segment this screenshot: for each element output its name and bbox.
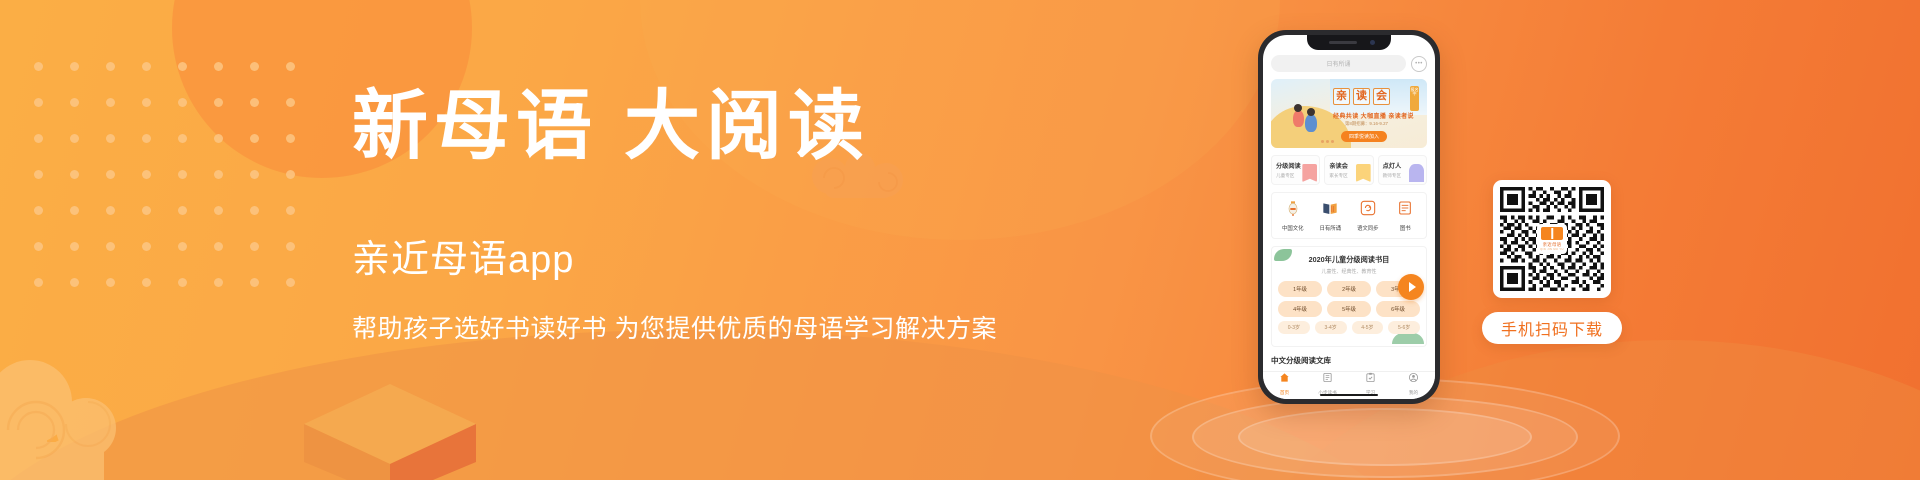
age-pill-4-5[interactable]: 4-5岁 xyxy=(1352,321,1384,334)
sync-icon xyxy=(1360,200,1376,216)
tab-study[interactable]: 学习 xyxy=(1349,372,1392,396)
booklist-subtitle: 儿童性、经典性、教育性 xyxy=(1278,268,1420,275)
quick-link-label: 图书 xyxy=(1387,224,1425,232)
hero-title-char: 读 xyxy=(1353,88,1370,105)
quick-link-label: 语文同步 xyxy=(1349,224,1387,232)
quick-link-row: 中国文化 日有所诵 xyxy=(1271,192,1427,239)
category-card-teacher[interactable]: 点灯人 教师专区 xyxy=(1378,155,1427,185)
kid-illustration xyxy=(1305,114,1317,132)
hero-title: 亲 读 会 xyxy=(1333,88,1390,105)
phone-notch xyxy=(1307,35,1391,50)
quick-link-label: 中国文化 xyxy=(1274,224,1312,232)
kid-head-illustration xyxy=(1307,108,1315,116)
hero-title-char: 亲 xyxy=(1333,88,1350,105)
app-content: 日有所诵 ••• 亲 读 会 报名中 经典共读 大咖 xyxy=(1263,35,1435,391)
lantern-icon xyxy=(1285,200,1301,216)
tab-label: 首页 xyxy=(1263,390,1306,396)
quick-link-sync-course[interactable]: 语文同步 xyxy=(1349,200,1387,232)
age-pill-3-4[interactable]: 3-4岁 xyxy=(1315,321,1347,334)
phone-screen: 日有所诵 ••• 亲 读 会 报名中 经典共读 大咖 xyxy=(1263,35,1435,399)
app-search-bar: 日有所诵 ••• xyxy=(1271,55,1427,72)
tab-profile[interactable]: 我的 xyxy=(1392,372,1435,396)
phone-mockup: 日有所诵 ••• 亲 读 会 报名中 经典共读 大咖 xyxy=(1258,30,1440,404)
promo-banner: 新母语大阅读 亲近母语app 帮助孩子选好书读好书 为您提供优质的母语学习解决方… xyxy=(0,0,1920,480)
book-logo-icon xyxy=(1541,227,1563,240)
quick-link-label: 日有所诵 xyxy=(1312,224,1350,232)
grade-pill-2[interactable]: 2年级 xyxy=(1327,281,1371,297)
bookmark-red-icon xyxy=(1302,164,1317,182)
app-name-subtitle: 亲近母语app xyxy=(352,228,997,283)
download-button[interactable]: 手机扫码下载 xyxy=(1482,312,1622,344)
headline-part-right: 大阅读 xyxy=(624,81,870,170)
quick-link-chinese-culture[interactable]: 中国文化 xyxy=(1274,200,1312,232)
category-card-row: 分级阅读 儿童专区 亲读会 家长专区 点灯人 教师专区 xyxy=(1271,155,1427,185)
book-icon xyxy=(1397,200,1413,216)
bookmark-yellow-icon xyxy=(1356,164,1371,182)
tab-home[interactable]: 首页 xyxy=(1263,372,1306,396)
banner-tagline: 帮助孩子选好书读好书 为您提供优质的母语学习解决方案 xyxy=(352,309,997,345)
age-pill-5-6[interactable]: 5-6岁 xyxy=(1388,321,1420,334)
category-card-graded-reading[interactable]: 分级阅读 儿童专区 xyxy=(1271,155,1320,185)
person-purple-icon xyxy=(1409,164,1424,182)
hero-subtitle: 经典共读 大咖直播 亲读者说 xyxy=(1333,111,1414,120)
library-title: 中文分级阅读文库 xyxy=(1271,355,1427,366)
carousel-dots[interactable] xyxy=(1321,140,1334,143)
hero-date-text: 第8期招募：9.16-9.27 xyxy=(1345,121,1388,127)
booklist-card: 2020年儿童分级阅读书目 儿童性、经典性、教育性 1年级 2年级 3年级 4年… xyxy=(1271,246,1427,347)
hero-promo-card[interactable]: 亲 读 会 报名中 经典共读 大咖直播 亲读者说 第8期招募：9.16-9.27… xyxy=(1271,79,1427,148)
hero-join-button[interactable]: 四季悦读加入 xyxy=(1341,131,1387,142)
age-pill-0-3[interactable]: 0-3岁 xyxy=(1278,321,1310,334)
grade-pill-4[interactable]: 4年级 xyxy=(1278,301,1322,317)
banner-copy: 新母语大阅读 亲近母语app 帮助孩子选好书读好书 为您提供优质的母语学习解决方… xyxy=(352,88,997,345)
chat-bubble-icon[interactable]: ••• xyxy=(1411,56,1427,72)
speaker-grill-icon xyxy=(1329,41,1357,44)
age-row: 0-3岁 3-4岁 4-5岁 5-6岁 xyxy=(1278,321,1420,334)
dot-grid-decoration xyxy=(34,62,322,314)
home-indicator xyxy=(1320,394,1378,397)
grade-pill-6[interactable]: 6年级 xyxy=(1376,301,1420,317)
clipboard-check-icon xyxy=(1365,372,1376,383)
booklist-title: 2020年儿童分级阅读书目 xyxy=(1278,255,1420,265)
hero-side-tag: 报名中 xyxy=(1410,86,1419,111)
phone-shadow-ripple xyxy=(1238,408,1532,466)
kid-head-illustration xyxy=(1294,104,1302,112)
tab-reading[interactable]: 小步读书 xyxy=(1306,372,1349,396)
reading-icon xyxy=(1322,372,1333,383)
cloud-swirl-decoration xyxy=(0,358,208,480)
kid-illustration xyxy=(1293,110,1304,127)
grade-pill-5[interactable]: 5年级 xyxy=(1327,301,1371,317)
box-3d-decoration xyxy=(300,378,480,480)
home-icon xyxy=(1279,372,1290,383)
tab-label: 我的 xyxy=(1392,390,1435,396)
grade-pill-1[interactable]: 1年级 xyxy=(1278,281,1322,297)
grade-row: 4年级 5年级 6年级 xyxy=(1278,301,1420,317)
quick-link-daily-recite[interactable]: 日有所诵 xyxy=(1312,200,1350,232)
search-input[interactable]: 日有所诵 xyxy=(1271,55,1406,72)
book-open-icon xyxy=(1322,200,1338,216)
leaf-decoration xyxy=(1392,333,1424,344)
qr-center-logo: 亲近母语 QIN JIN MU YU xyxy=(1537,224,1567,254)
qr-logo-pinyin: QIN JIN MU YU xyxy=(1540,248,1563,251)
hero-title-char: 会 xyxy=(1373,88,1390,105)
headline-part-left: 新母语 xyxy=(352,81,598,170)
page-title: 新母语大阅读 xyxy=(352,88,997,164)
qr-code-card[interactable]: 亲近母语 QIN JIN MU YU xyxy=(1493,180,1611,298)
category-card-parent-club[interactable]: 亲读会 家长专区 xyxy=(1324,155,1373,185)
play-video-icon[interactable] xyxy=(1398,274,1424,300)
front-camera-icon xyxy=(1370,40,1375,45)
quick-link-books[interactable]: 图书 xyxy=(1387,200,1425,232)
user-icon xyxy=(1408,372,1419,383)
